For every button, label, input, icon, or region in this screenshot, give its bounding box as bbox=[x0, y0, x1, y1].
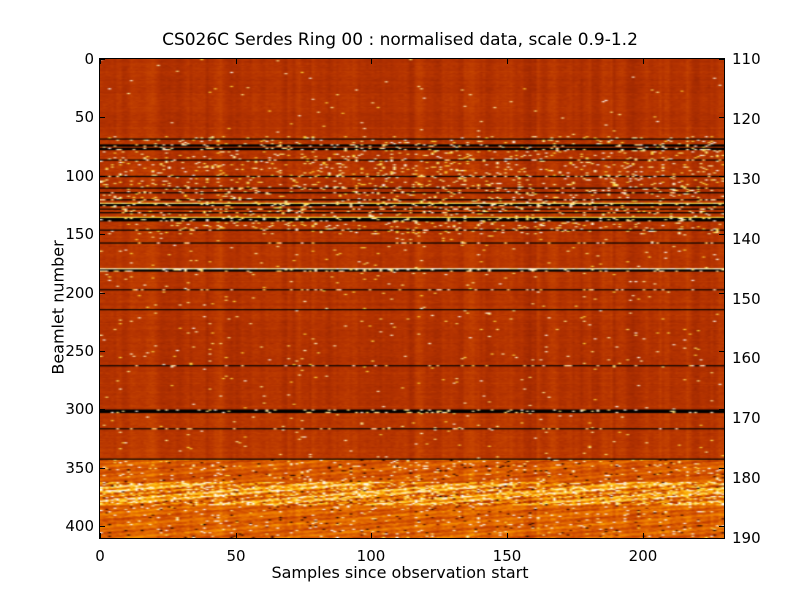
tick-beamlet-right-200 bbox=[719, 293, 724, 294]
tick-sample-50 bbox=[236, 533, 237, 538]
tick-sample-0 bbox=[100, 533, 101, 538]
ticklabel-frequency-190: 190 bbox=[732, 529, 776, 547]
tick-beamlet-right-300 bbox=[719, 409, 724, 410]
ticklabel-frequency-130: 130 bbox=[732, 170, 776, 188]
tick-sample-top-50 bbox=[236, 59, 237, 64]
tick-sample-top-0 bbox=[100, 59, 101, 64]
tick-sample-150 bbox=[507, 533, 508, 538]
ticklabel-beamlet-0: 0 bbox=[54, 50, 94, 68]
tick-beamlet-300 bbox=[100, 409, 105, 410]
heatmap-axes bbox=[99, 58, 725, 539]
tick-beamlet-right-400 bbox=[719, 526, 724, 527]
tick-beamlet-right-50 bbox=[719, 117, 724, 118]
tick-beamlet-right-350 bbox=[719, 468, 724, 469]
figure-canvas: CS026C Serdes Ring 00 : normalised data,… bbox=[0, 0, 800, 600]
tick-beamlet-250 bbox=[100, 351, 105, 352]
tick-sample-200 bbox=[643, 533, 644, 538]
tick-beamlet-50 bbox=[100, 117, 105, 118]
tick-beamlet-right-100 bbox=[719, 176, 724, 177]
ticklabel-beamlet-100: 100 bbox=[54, 167, 94, 185]
page-title: CS026C Serdes Ring 00 : normalised data,… bbox=[0, 30, 800, 50]
tick-beamlet-right-150 bbox=[719, 234, 724, 235]
tick-beamlet-right-0 bbox=[719, 59, 724, 60]
ticklabel-frequency-150: 150 bbox=[732, 290, 776, 308]
x-axis-label: Samples since observation start bbox=[0, 563, 800, 582]
tick-beamlet-right-250 bbox=[719, 351, 724, 352]
ticklabel-beamlet-400: 400 bbox=[54, 517, 94, 535]
heatmap-image bbox=[100, 59, 724, 538]
ticklabel-beamlet-350: 350 bbox=[54, 459, 94, 477]
tick-sample-100 bbox=[371, 533, 372, 538]
ticklabel-frequency-140: 140 bbox=[732, 230, 776, 248]
tick-beamlet-200 bbox=[100, 293, 105, 294]
tick-sample-top-200 bbox=[643, 59, 644, 64]
tick-sample-top-150 bbox=[507, 59, 508, 64]
ticklabel-frequency-170: 170 bbox=[732, 409, 776, 427]
ticklabel-frequency-160: 160 bbox=[732, 349, 776, 367]
tick-beamlet-100 bbox=[100, 176, 105, 177]
ticklabel-frequency-180: 180 bbox=[732, 469, 776, 487]
ticklabel-frequency-110: 110 bbox=[732, 50, 776, 68]
tick-sample-top-100 bbox=[371, 59, 372, 64]
y-axis-label: Beamlet number bbox=[49, 208, 68, 408]
tick-beamlet-150 bbox=[100, 234, 105, 235]
tick-beamlet-400 bbox=[100, 526, 105, 527]
tick-beamlet-350 bbox=[100, 468, 105, 469]
ticklabel-beamlet-50: 50 bbox=[54, 108, 94, 126]
ticklabel-frequency-120: 120 bbox=[732, 110, 776, 128]
